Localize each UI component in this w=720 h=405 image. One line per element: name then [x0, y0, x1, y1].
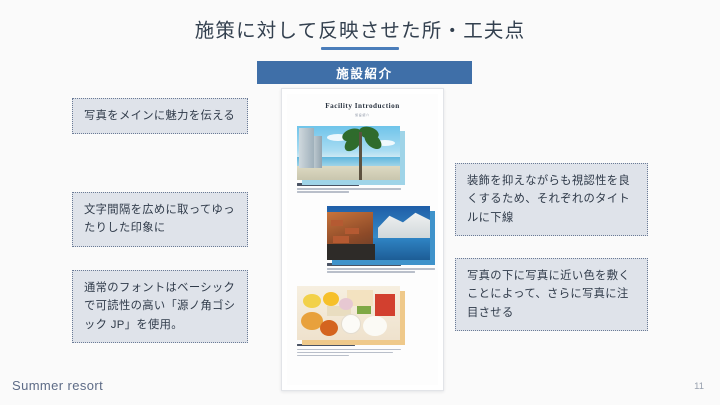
photo-breakfast-buffet: [297, 286, 400, 340]
preview-section-cliff-coast: [287, 206, 438, 273]
title-underline-accent: [321, 47, 399, 50]
caption-body-rule: [297, 355, 349, 357]
caption-body-rule: [297, 352, 393, 354]
footer-label: Summer resort: [12, 378, 103, 393]
photo-caption: [297, 344, 407, 357]
callout-photo-main: 写真をメインに魅力を伝える: [72, 98, 248, 134]
preview-subtitle: 施設紹介: [287, 113, 438, 117]
section-banner-label: 施設紹介: [336, 63, 392, 82]
photo-frame: [327, 206, 430, 260]
photo-frame: [297, 286, 400, 340]
section-banner: 施設紹介: [257, 61, 472, 84]
preview-section-breakfast-buffet: [287, 286, 438, 356]
caption-body-rule: [297, 349, 401, 351]
slide-preview-thumbnail[interactable]: Facility Introduction 施設紹介: [281, 88, 444, 391]
caption-body-rule: [297, 191, 349, 193]
caption-body-rule: [297, 188, 401, 190]
photo-cliff-coast: [327, 206, 430, 260]
photo-frame: [297, 126, 400, 180]
callout-title-underline: 装飾を抑えながらも視認性を良くするため、それぞれのタイトルに下線: [455, 163, 648, 236]
preview-section-beach-pool: [287, 126, 438, 193]
preview-header: Facility Introduction 施設紹介: [287, 94, 438, 117]
preview-title: Facility Introduction: [287, 102, 438, 110]
photo-beach-pool: [297, 126, 400, 180]
callout-color-band: 写真の下に写真に近い色を敷くことによって、さらに写真に注目させる: [455, 258, 648, 331]
page-number: 11: [694, 381, 704, 392]
callout-font-choice: 通常のフォントはベーシックで可読性の高い「源ノ角ゴシック JP」を使用。: [72, 270, 248, 343]
preview-page: Facility Introduction 施設紹介: [287, 94, 438, 385]
caption-body-rule: [327, 271, 415, 273]
caption-body-rule: [327, 268, 435, 270]
page-title: 施策に対して反映させた所・工夫点: [0, 14, 720, 43]
callout-letter-spacing: 文字間隔を広めに取ってゆったりした印象に: [72, 192, 248, 247]
